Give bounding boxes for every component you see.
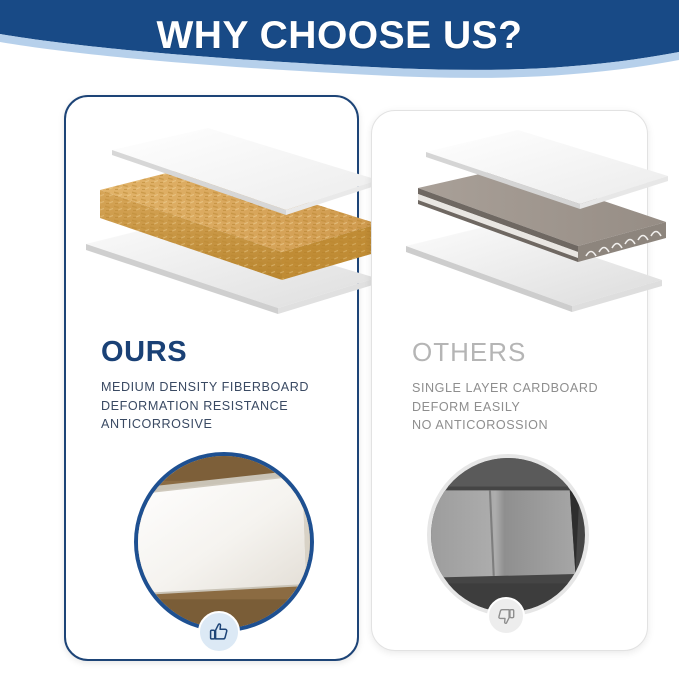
thumbs-up-icon [207,620,231,644]
ours-text-block: OURS MEDIUM DENSITY FIBERBOARD DEFORMATI… [101,336,351,434]
others-feature-list: SINGLE LAYER CARDBOARD DEFORM EASILY NO … [412,379,652,435]
cardboard-board-illustration [400,130,668,330]
others-text-block: OTHERS SINGLE LAYER CARDBOARD DEFORM EAS… [412,337,652,435]
others-feature-item: SINGLE LAYER CARDBOARD [412,379,652,398]
others-feature-item: NO ANTICOROSSION [412,416,652,435]
ours-heading: OURS [101,336,351,369]
others-feature-item: DEFORM EASILY [412,398,652,417]
ours-feature-item: MEDIUM DENSITY FIBERBOARD [101,378,351,397]
mdf-board-illustration [78,128,378,328]
others-heading: OTHERS [412,337,652,368]
thumbs-down-icon [495,605,517,627]
page-title: WHY CHOOSE US? [0,14,679,58]
infographic-page: WHY CHOOSE US? [0,0,679,677]
ours-product-photo [134,452,314,632]
ours-feature-item: ANTICORROSIVE [101,415,351,434]
header-banner: WHY CHOOSE US? [0,0,679,88]
ours-feature-item: DEFORMATION RESISTANCE [101,397,351,416]
ours-feature-list: MEDIUM DENSITY FIBERBOARD DEFORMATION RE… [101,378,351,434]
others-product-photo [427,454,589,616]
thumbs-up-badge [198,611,240,653]
thumbs-down-badge [487,597,525,635]
